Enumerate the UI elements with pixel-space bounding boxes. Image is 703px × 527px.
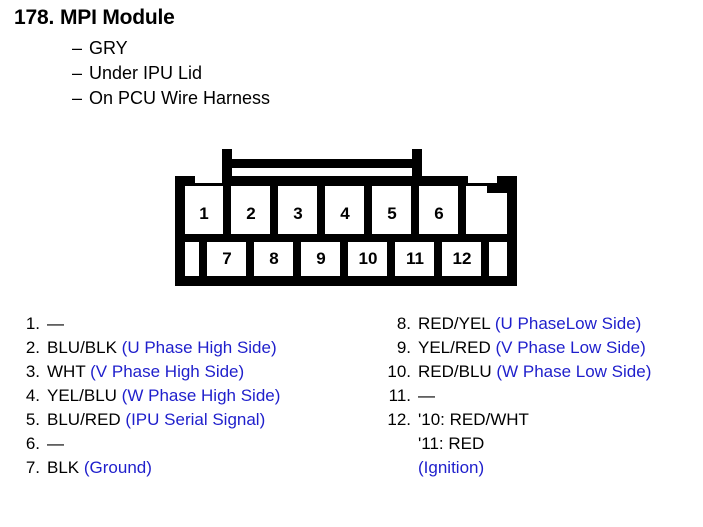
table-row: 11. — [381, 384, 696, 408]
pin-detail: '10: RED/WHT '11: RED (Ignition) [418, 408, 696, 480]
pin-detail: YEL/BLU (W Phase High Side) [47, 384, 378, 408]
table-row: 10. RED/BLU (W Phase Low Side) [381, 360, 696, 384]
table-row: 1. — [18, 312, 378, 336]
pin-description: (V Phase High Side) [90, 362, 244, 381]
pin-wire-color-variant-2: '11: RED [418, 432, 696, 456]
pin-number: 1. [18, 312, 47, 336]
pin-detail: WHT (V Phase High Side) [47, 360, 378, 384]
list-item: – GRY [72, 36, 674, 61]
module-header: 178. MPI Module – GRY – Under IPU Lid – … [14, 6, 674, 111]
pin-detail: BLK (Ground) [47, 456, 378, 480]
connector-pin-7: 7 [222, 249, 231, 268]
table-row: 7. BLK (Ground) [18, 456, 378, 480]
connector-pin-1: 1 [199, 204, 208, 223]
module-number: 178. [14, 6, 60, 30]
pin-description: (U PhaseLow Side) [495, 314, 641, 333]
table-row: 2. BLU/BLK (U Phase High Side) [18, 336, 378, 360]
pin-number: 6. [18, 432, 47, 456]
connector-pin-4: 4 [340, 204, 350, 223]
pin-number: 8. [381, 312, 418, 336]
page-title: 178. MPI Module [14, 6, 674, 30]
connector-diagram: 1 2 3 4 5 6 7 8 9 10 11 12 [166, 142, 526, 292]
pin-wire-color: BLU/BLK [47, 338, 117, 357]
pin-detail: — [47, 312, 378, 336]
pin-wire-color-variant-1: '10: RED/WHT [418, 408, 696, 432]
table-row: 9. YEL/RED (V Phase Low Side) [381, 336, 696, 360]
pin-detail: — [418, 384, 696, 408]
bullet-dash-icon: – [72, 36, 89, 61]
pin-number: 10. [381, 360, 418, 384]
module-attribute-list: – GRY – Under IPU Lid – On PCU Wire Harn… [14, 36, 674, 111]
pin-detail: YEL/RED (V Phase Low Side) [418, 336, 696, 360]
pin-description: (Ground) [84, 458, 152, 477]
pin-row-bottom-dividers [199, 238, 489, 276]
connector-pin-12: 12 [453, 249, 472, 268]
connector-pin-6: 6 [434, 204, 443, 223]
pin-list-right: 8. RED/YEL (U PhaseLow Side) 9. YEL/RED … [381, 312, 696, 480]
table-row: 3. WHT (V Phase High Side) [18, 360, 378, 384]
list-item: – Under IPU Lid [72, 61, 674, 86]
pin-detail: BLU/RED (IPU Serial Signal) [47, 408, 378, 432]
connector-pin-9: 9 [316, 249, 325, 268]
table-row: 12. '10: RED/WHT '11: RED (Ignition) [381, 408, 696, 480]
pin-number: 5. [18, 408, 47, 432]
connector-pin-5: 5 [387, 204, 396, 223]
pin-number: 11. [381, 384, 418, 408]
pin-number: 9. [381, 336, 418, 360]
pin-wire-color: BLK [47, 458, 79, 477]
pin-detail: — [47, 432, 378, 456]
pin-number: 7. [18, 456, 47, 480]
pin-number: 4. [18, 384, 47, 408]
pin-description: (V Phase Low Side) [495, 338, 645, 357]
pin-detail: RED/YEL (U PhaseLow Side) [418, 312, 696, 336]
pin-description: (IPU Serial Signal) [125, 410, 265, 429]
module-attribute-label: On PCU Wire Harness [89, 86, 270, 111]
module-attribute-label: GRY [89, 36, 128, 61]
table-row: 8. RED/YEL (U PhaseLow Side) [381, 312, 696, 336]
list-item: – On PCU Wire Harness [72, 86, 674, 111]
connector-pin-10: 10 [359, 249, 378, 268]
table-row: 4. YEL/BLU (W Phase High Side) [18, 384, 378, 408]
connector-pin-8: 8 [269, 249, 278, 268]
pin-description: (Ignition) [418, 456, 696, 480]
pin-wire-color: RED/BLU [418, 362, 492, 381]
table-row: 5. BLU/RED (IPU Serial Signal) [18, 408, 378, 432]
pin-wire-color: WHT [47, 362, 85, 381]
pin-description: (W Phase High Side) [122, 386, 281, 405]
pin-list-left: 1. — 2. BLU/BLK (U Phase High Side) 3. W… [18, 312, 378, 480]
pin-number: 2. [18, 336, 47, 360]
pin-wire-color: RED/YEL [418, 314, 490, 333]
module-attribute-label: Under IPU Lid [89, 61, 202, 86]
pin-wire-color: YEL/BLU [47, 386, 117, 405]
connector-pin-3: 3 [293, 204, 302, 223]
pin-wire-color: — [47, 314, 64, 333]
pin-description: (U Phase High Side) [122, 338, 277, 357]
pin-wire-color: YEL/RED [418, 338, 491, 357]
connector-pin-11: 11 [406, 249, 424, 268]
bullet-dash-icon: – [72, 86, 89, 111]
pin-wire-color: — [418, 386, 435, 405]
pin-number: 12. [381, 408, 418, 432]
bullet-dash-icon: – [72, 61, 89, 86]
pin-number: 3. [18, 360, 47, 384]
module-title: MPI Module [60, 6, 175, 30]
pin-wire-color: BLU/RED [47, 410, 121, 429]
connector-pin-2: 2 [246, 204, 255, 223]
pin-description: (W Phase Low Side) [496, 362, 651, 381]
pin-wire-color: — [47, 434, 64, 453]
pin-detail: BLU/BLK (U Phase High Side) [47, 336, 378, 360]
table-row: 6. — [18, 432, 378, 456]
pin-detail: RED/BLU (W Phase Low Side) [418, 360, 696, 384]
